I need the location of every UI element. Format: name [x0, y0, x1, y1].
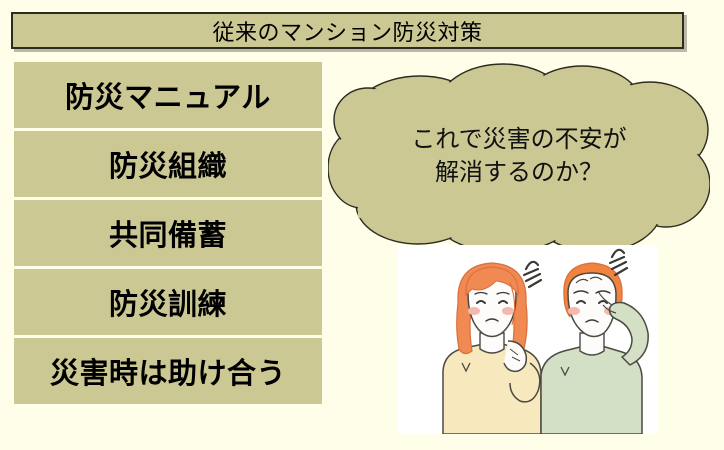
worried-couple-illustration [398, 245, 657, 434]
illustration-art [398, 245, 657, 434]
measure-item-label: 災害時は助け合う [50, 350, 286, 392]
page-title: 従来のマンション防災対策 [212, 15, 482, 47]
measure-item-label: 防災組織 [109, 143, 227, 185]
measure-item-1: 防災マニュアル [14, 62, 322, 128]
thought-bubble-shape [328, 58, 710, 253]
measures-list: 防災マニュアル 防災組織 共同備蓄 防災訓練 災害時は助け合う [14, 62, 322, 407]
thought-bubble: これで災害の不安が 解消するのか？ [328, 58, 710, 253]
measure-item-2: 防災組織 [14, 131, 322, 197]
slide-canvas: 従来のマンション防災対策 防災マニュアル 防災組織 共同備蓄 防災訓練 災害時は… [0, 0, 724, 450]
measure-item-4: 防災訓練 [14, 269, 322, 335]
measure-item-label: 共同備蓄 [109, 212, 227, 254]
measure-item-label: 防災マニュアル [65, 74, 271, 116]
measure-item-label: 防災訓練 [109, 281, 227, 323]
page-title-bar: 従来のマンション防災対策 [11, 12, 684, 49]
measure-item-3: 共同備蓄 [14, 200, 322, 266]
measure-item-5: 災害時は助け合う [14, 338, 322, 404]
